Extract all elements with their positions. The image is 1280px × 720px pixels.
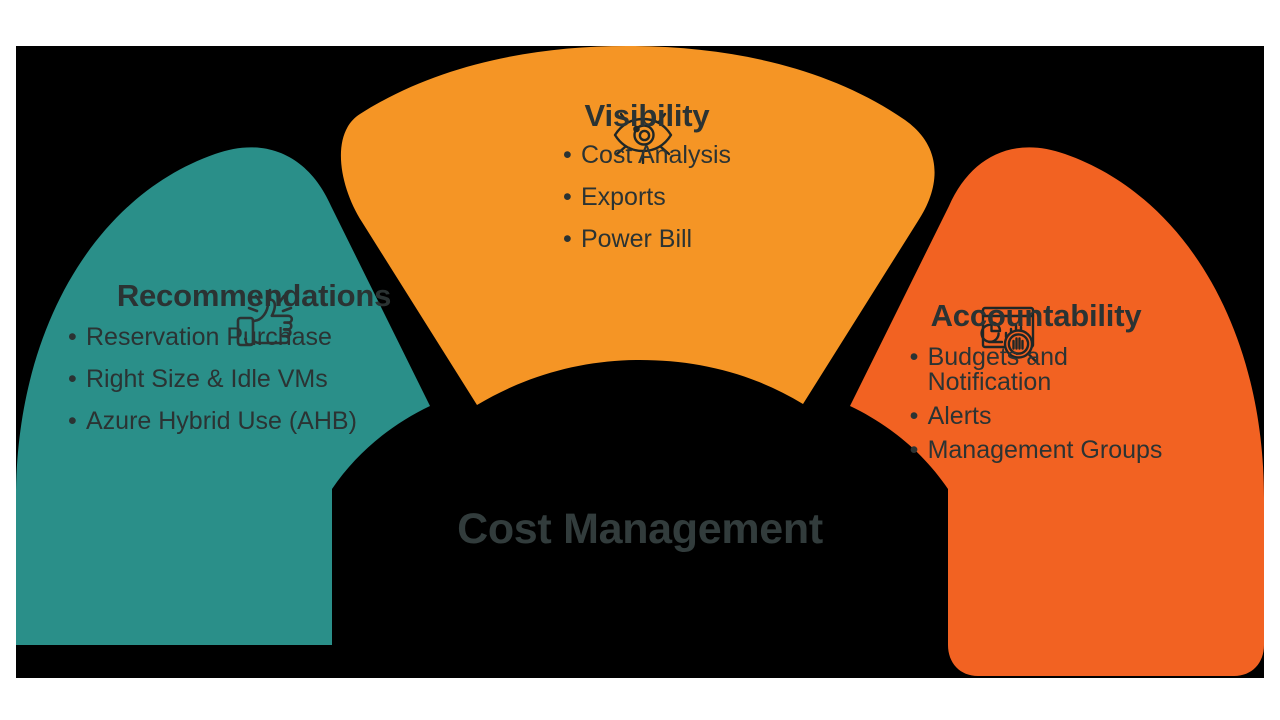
- hub-title: Cost Management: [340, 505, 940, 554]
- list-item: • Cost Analysis: [563, 143, 731, 168]
- list-item-label: Power Bill: [581, 225, 692, 253]
- recommendations-text-block: Recommendations • Reservation Purchase •…: [54, 280, 454, 451]
- list-item: • Power Bill: [563, 227, 731, 252]
- accountability-text-block: Accountability • Budgets and Notificatio…: [836, 300, 1236, 472]
- bullet-icon: •: [68, 367, 77, 392]
- list-item: • Right Size & Idle VMs: [68, 367, 454, 392]
- list-item-label: Cost Analysis: [581, 141, 731, 169]
- accountability-title: Accountability: [836, 300, 1236, 331]
- list-item: • Reservation Purchase: [68, 325, 454, 350]
- list-item-label: Exports: [581, 183, 666, 211]
- visibility-list: • Cost Analysis • Exports • Power Bill: [563, 143, 731, 269]
- list-item-label: Budgets and Notification: [928, 343, 1068, 396]
- list-item: • Exports: [563, 185, 731, 210]
- bullet-icon: •: [910, 345, 919, 370]
- list-item-label: Azure Hybrid Use (AHB): [86, 407, 357, 435]
- bullet-icon: •: [910, 404, 919, 429]
- bullet-icon: •: [68, 409, 77, 434]
- accountability-list: • Budgets and Notification • Alerts • Ma…: [910, 345, 1163, 472]
- list-item-label: Alerts: [928, 402, 992, 430]
- visibility-title: Visibility: [447, 100, 847, 131]
- diagram-stage: Recommendations • Reservation Purchase •…: [0, 0, 1280, 720]
- bullet-icon: •: [563, 185, 572, 210]
- bullet-icon: •: [68, 325, 77, 350]
- list-item: • Azure Hybrid Use (AHB): [68, 409, 454, 434]
- list-item-label: Right Size & Idle VMs: [86, 365, 328, 393]
- list-item: • Alerts: [910, 404, 1163, 429]
- list-item-label: Management Groups: [928, 436, 1163, 464]
- bullet-icon: •: [563, 143, 572, 168]
- list-item-label: Reservation Purchase: [86, 323, 332, 351]
- recommendations-title: Recommendations: [54, 280, 454, 311]
- visibility-text-block: Visibility • Cost Analysis • Exports • P…: [447, 100, 847, 269]
- bullet-icon: •: [910, 438, 919, 463]
- recommendations-list: • Reservation Purchase • Right Size & Id…: [54, 325, 454, 434]
- list-item: • Budgets and Notification: [910, 345, 1128, 395]
- list-item: • Management Groups: [910, 438, 1163, 463]
- bullet-icon: •: [563, 227, 572, 252]
